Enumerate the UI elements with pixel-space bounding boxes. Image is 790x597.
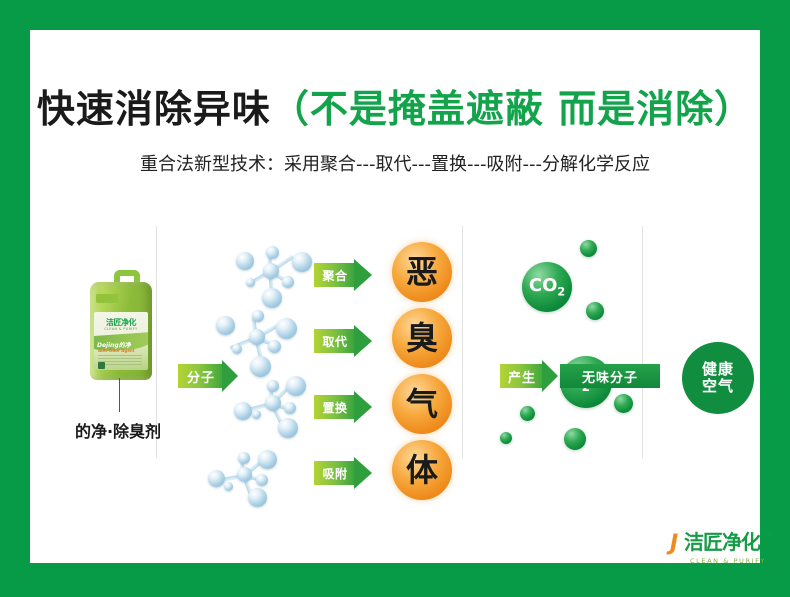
- title-green-part: （不是掩盖遮蔽 而是消除）: [271, 87, 753, 131]
- odorless-molecule-bar: 无味分子: [560, 364, 660, 388]
- reaction-arrow: 置换: [314, 391, 376, 423]
- reaction-step-label: 聚合: [322, 267, 347, 284]
- brand-logo-row: J 洁匠净化 ®: [670, 530, 780, 556]
- healthy-air-badge: 健康 空气: [682, 342, 754, 414]
- brand-name: 洁匠净化: [684, 532, 760, 552]
- healthy-air-line2: 空气: [702, 378, 734, 395]
- product-bottle-group: 洁匠净化 CLEAN & PURIFY Dejing的净 Anti-Odor A…: [68, 270, 168, 450]
- reaction-arrow: 聚合: [314, 259, 376, 291]
- poster-frame: 快速消除异味（不是掩盖遮蔽 而是消除） 重合法新型技术：采用聚合---取代---…: [0, 0, 790, 597]
- co2-label: CO2: [529, 277, 565, 298]
- reaction-row: 置换 气: [206, 374, 496, 440]
- bottle-label: 洁匠净化 CLEAN & PURIFY Dejing的净 Anti-Odor A…: [94, 312, 148, 370]
- brand-tagline: CLEAN & PURIFY: [686, 557, 770, 565]
- brand-initial: J: [670, 533, 678, 555]
- produce-arrow: 产生: [500, 360, 558, 392]
- registered-mark-icon: ®: [766, 530, 773, 538]
- co2-sphere: CO2: [522, 262, 572, 312]
- poster-canvas: 快速消除异味（不是掩盖遮蔽 而是消除） 重合法新型技术：采用聚合---取代---…: [30, 30, 760, 563]
- product-chip-label: 恶: [406, 256, 438, 288]
- reaction-row: 聚合 恶: [206, 242, 496, 308]
- arrow-head: [354, 391, 372, 423]
- bubble-icon: [500, 432, 512, 444]
- bottle-icon: 洁匠净化 CLEAN & PURIFY Dejing的净 Anti-Odor A…: [90, 270, 152, 380]
- reaction-row: 取代 臭: [206, 308, 496, 374]
- molecule-cluster-icon: [230, 238, 316, 304]
- product-chip: 体: [392, 440, 452, 500]
- arrow-head: [354, 325, 372, 357]
- product-caption: 的净·除臭剂: [60, 418, 176, 442]
- bubble-icon: [520, 406, 535, 421]
- product-chip: 恶: [392, 242, 452, 302]
- healthy-air-line1: 健康: [702, 361, 734, 378]
- arrow-head: [354, 259, 372, 291]
- title-black-part: 快速消除异味: [37, 87, 271, 131]
- reaction-arrow: 取代: [314, 325, 376, 357]
- page-subtitle: 重合法新型技术：采用聚合---取代---置换---吸附---分解化学反应: [30, 150, 760, 176]
- product-chip: 气: [392, 374, 452, 434]
- odorless-molecule-label: 无味分子: [582, 367, 638, 386]
- bottle-label-subtitle: Anti-Odor Agent: [98, 348, 148, 353]
- reaction-step-label: 取代: [322, 333, 347, 350]
- reaction-step-label: 吸附: [322, 465, 347, 482]
- arrow-label: 产生: [508, 367, 536, 386]
- product-chip-label: 气: [406, 388, 438, 420]
- product-chip: 臭: [392, 308, 452, 368]
- reaction-arrow: 吸附: [314, 457, 376, 489]
- reaction-row: 吸附 体: [206, 440, 496, 506]
- arrow-bar: 产生: [500, 364, 544, 388]
- product-chip-label: 臭: [406, 322, 438, 354]
- bottle-label-tagline: CLEAN & PURIFY: [94, 327, 148, 331]
- molecule-cluster-icon: [234, 374, 320, 440]
- bottle-label-badge: [98, 362, 105, 369]
- arrow-head: [542, 360, 558, 392]
- bottle-cap: [96, 294, 118, 303]
- byproduct-panel: CO2 H2O: [498, 226, 668, 458]
- product-chip-label: 体: [406, 454, 438, 486]
- bubble-icon: [564, 428, 586, 450]
- bubble-icon: [614, 394, 633, 413]
- bubble-icon: [580, 240, 597, 257]
- callout-line: [119, 378, 120, 412]
- brand-logo: J 洁匠净化 ® CLEAN & PURIFY: [670, 530, 780, 570]
- bubble-icon: [586, 302, 604, 320]
- molecule-cluster-icon: [214, 306, 300, 372]
- reaction-step-label: 置换: [322, 399, 347, 416]
- molecule-cluster-icon: [200, 444, 286, 510]
- bottle-body: 洁匠净化 CLEAN & PURIFY Dejing的净 Anti-Odor A…: [90, 282, 152, 380]
- page-title: 快速消除异味（不是掩盖遮蔽 而是消除）: [30, 78, 760, 133]
- arrow-head: [354, 457, 372, 489]
